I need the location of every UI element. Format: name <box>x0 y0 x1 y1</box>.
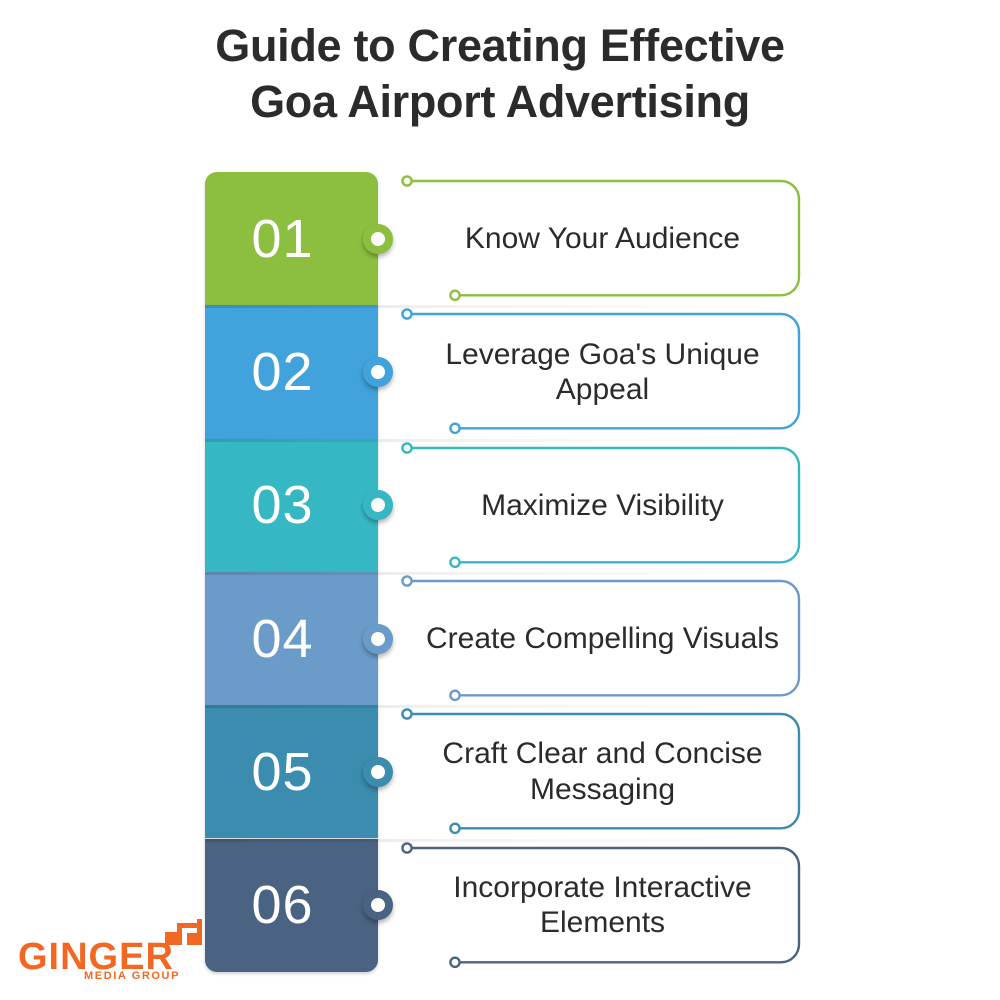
step-number: 02 <box>251 345 313 399</box>
page-title-line-2: Goa Airport Advertising <box>0 74 1000 130</box>
step-number-block: 05 <box>205 705 378 838</box>
step-marker-dot <box>363 890 393 920</box>
step-number: 03 <box>251 478 313 532</box>
step-label: Leverage Goa's Unique Appeal <box>410 305 795 438</box>
step-row[interactable]: 01Know Your Audience <box>205 172 805 305</box>
step-number: 04 <box>251 612 313 666</box>
step-number-block: 06 <box>205 839 378 972</box>
step-label-text: Know Your Audience <box>465 221 740 256</box>
step-label-text: Craft Clear and Concise Messaging <box>422 736 783 807</box>
steps-list: 01Know Your Audience02Leverage Goa's Uni… <box>205 172 805 972</box>
brand-logo: GINGER MEDIA GROUP <box>18 916 208 986</box>
step-marker-dot <box>363 490 393 520</box>
step-row[interactable]: 04Create Compelling Visuals <box>205 572 805 705</box>
logo-tagline: MEDIA GROUP <box>84 971 180 982</box>
step-number-block: 02 <box>205 305 378 438</box>
step-label: Craft Clear and Concise Messaging <box>410 705 795 838</box>
step-row[interactable]: 03Maximize Visibility <box>205 439 805 572</box>
page-title-line-1: Guide to Creating Effective <box>0 18 1000 74</box>
step-number-block: 01 <box>205 172 378 305</box>
page-title: Guide to Creating Effective Goa Airport … <box>0 18 1000 131</box>
step-marker-dot <box>363 624 393 654</box>
step-label-text: Create Compelling Visuals <box>426 621 779 656</box>
step-label-text: Incorporate Interactive Elements <box>422 870 783 941</box>
step-label: Maximize Visibility <box>410 439 795 572</box>
step-number-block: 04 <box>205 572 378 705</box>
step-label: Incorporate Interactive Elements <box>410 839 795 972</box>
step-number: 01 <box>251 212 313 266</box>
step-marker-dot <box>363 757 393 787</box>
step-number: 05 <box>251 745 313 799</box>
step-number: 06 <box>251 878 313 932</box>
step-label-text: Maximize Visibility <box>481 488 724 523</box>
step-row[interactable]: 06Incorporate Interactive Elements <box>205 839 805 972</box>
step-row[interactable]: 05Craft Clear and Concise Messaging <box>205 705 805 838</box>
step-label: Know Your Audience <box>410 172 795 305</box>
step-number-block: 03 <box>205 439 378 572</box>
step-marker-dot <box>363 224 393 254</box>
nested-squares-icon <box>164 918 206 956</box>
step-label-text: Leverage Goa's Unique Appeal <box>422 337 783 408</box>
step-row[interactable]: 02Leverage Goa's Unique Appeal <box>205 305 805 438</box>
step-label: Create Compelling Visuals <box>410 572 795 705</box>
step-marker-dot <box>363 357 393 387</box>
